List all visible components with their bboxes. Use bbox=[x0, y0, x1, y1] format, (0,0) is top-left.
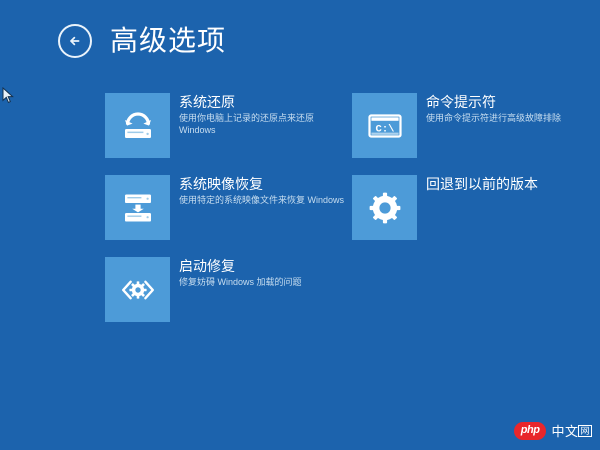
option-description: 使用命令提示符进行高级故障排除 bbox=[426, 112, 561, 124]
option-text: 命令提示符 使用命令提示符进行高级故障排除 bbox=[426, 93, 561, 124]
options-column-left: 系统还原 使用你电脑上记录的还原点来还原 Windows bbox=[105, 93, 352, 322]
option-go-back-previous-build[interactable]: 回退到以前的版本 bbox=[352, 175, 599, 240]
back-arrow-circle-icon[interactable] bbox=[58, 24, 92, 58]
command-prompt-icon: C:\ bbox=[365, 106, 405, 146]
recovery-environment-screen: 高级选项 bbox=[0, 0, 600, 450]
mouse-cursor bbox=[2, 87, 14, 105]
option-label: 启动修复 bbox=[179, 258, 302, 274]
option-description: 使用你电脑上记录的还原点来还原 Windows bbox=[179, 112, 344, 136]
go-back-previous-build-tile[interactable] bbox=[352, 175, 417, 240]
system-image-recovery-tile[interactable] bbox=[105, 175, 170, 240]
php-logo-badge: php bbox=[514, 422, 547, 440]
system-image-recovery-icon bbox=[118, 188, 158, 228]
option-description: 修复妨碍 Windows 加载的问题 bbox=[179, 276, 302, 288]
advanced-options-grid: 系统还原 使用你电脑上记录的还原点来还原 Windows bbox=[105, 93, 575, 339]
option-system-image-recovery[interactable]: 系统映像恢复 使用特定的系统映像文件来恢复 Windows bbox=[105, 175, 352, 240]
startup-repair-tile[interactable] bbox=[105, 257, 170, 322]
option-system-restore[interactable]: 系统还原 使用你电脑上记录的还原点来还原 Windows bbox=[105, 93, 352, 158]
system-restore-icon bbox=[118, 106, 158, 146]
option-text: 启动修复 修复妨碍 Windows 加载的问题 bbox=[179, 257, 302, 288]
option-text: 回退到以前的版本 bbox=[426, 175, 538, 192]
startup-repair-icon bbox=[118, 270, 158, 310]
watermark-site-name: 中文网 bbox=[551, 425, 592, 438]
option-startup-repair[interactable]: 启动修复 修复妨碍 Windows 加载的问题 bbox=[105, 257, 352, 322]
option-label: 系统映像恢复 bbox=[179, 176, 344, 192]
option-label: 回退到以前的版本 bbox=[426, 176, 538, 192]
option-label: 命令提示符 bbox=[426, 94, 561, 110]
option-description: 使用特定的系统映像文件来恢复 Windows bbox=[179, 194, 344, 206]
watermark: php 中文网 bbox=[514, 422, 592, 440]
option-text: 系统映像恢复 使用特定的系统映像文件来恢复 Windows bbox=[179, 175, 344, 206]
options-column-right: C:\ 命令提示符 使用命令提示符进行高级故障排除 bbox=[352, 93, 599, 257]
option-text: 系统还原 使用你电脑上记录的还原点来还原 Windows bbox=[179, 93, 344, 136]
system-restore-tile[interactable] bbox=[105, 93, 170, 158]
watermark-site-name-text: 中文 bbox=[551, 424, 578, 439]
option-label: 系统还原 bbox=[179, 94, 344, 110]
command-prompt-tile[interactable]: C:\ bbox=[352, 93, 417, 158]
watermark-site-name-box: 网 bbox=[578, 425, 592, 437]
page-title: 高级选项 bbox=[110, 27, 226, 55]
option-command-prompt[interactable]: C:\ 命令提示符 使用命令提示符进行高级故障排除 bbox=[352, 93, 599, 158]
page-header: 高级选项 bbox=[58, 24, 226, 58]
gear-icon bbox=[365, 188, 405, 228]
